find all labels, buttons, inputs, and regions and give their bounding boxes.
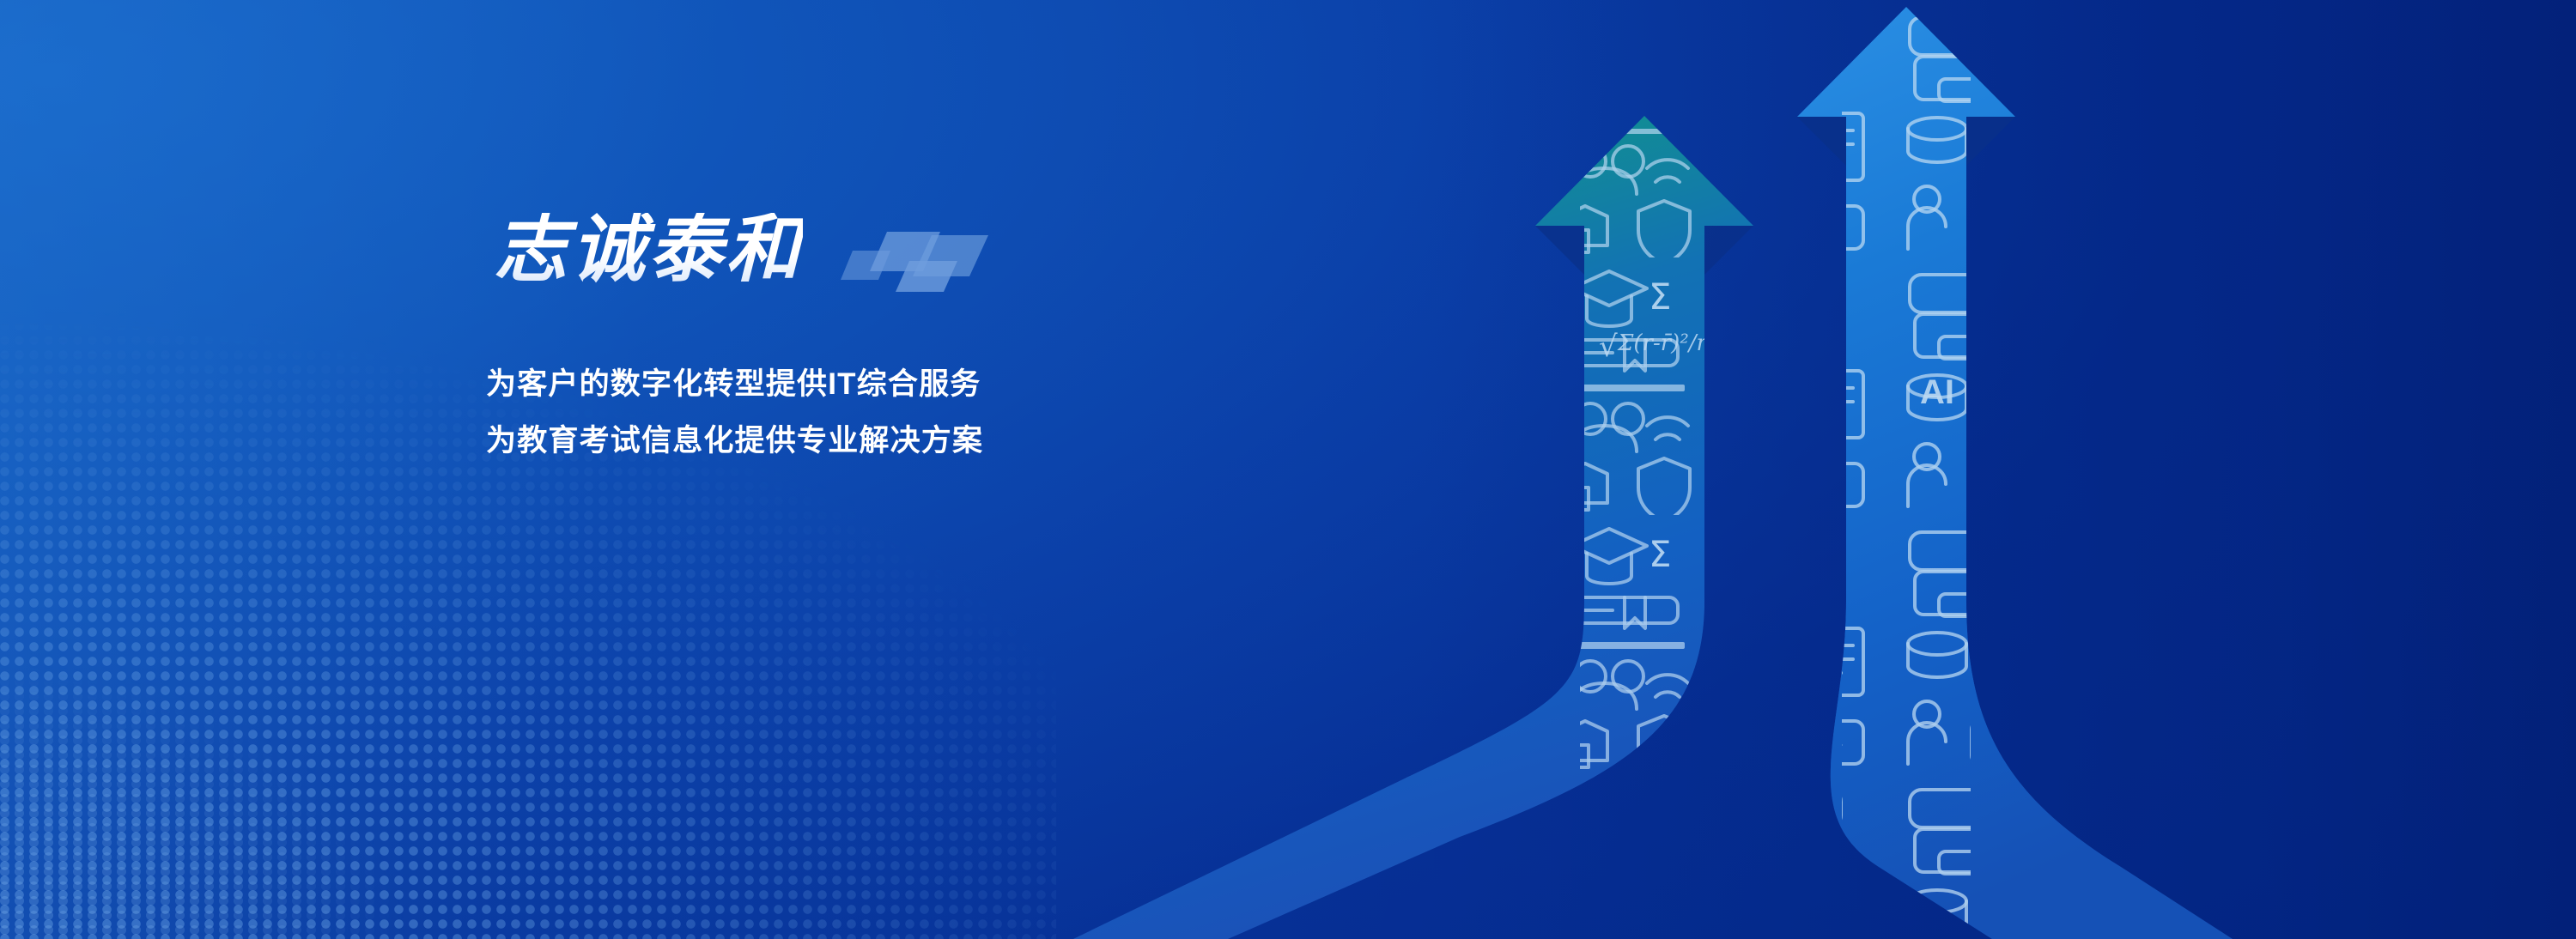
svg-text:AI: AI (1920, 373, 1954, 411)
it-service-arrow: AI (1797, 7, 2233, 939)
page-title: 志诚泰和 (494, 213, 803, 287)
tagline-line-2: 为教育考试信息化提供专业解决方案 (486, 426, 983, 456)
hero-banner: Σ (0, 0, 2576, 939)
education-arrow: √ Σ(r-r̄)²/n (1073, 116, 1753, 939)
green-arrow-shadow (1535, 226, 1584, 275)
parallelogram-logo-mark (837, 221, 1000, 295)
svg-text:Σ(r-r̄)²/n: Σ(r-r̄)²/n (1617, 330, 1710, 356)
blue-arrow-shadow (1797, 117, 1846, 166)
svg-text:√: √ (1599, 330, 1618, 364)
arrows-illustration: Σ (0, 0, 2576, 939)
tagline-line-1: 为客户的数字化转型提供IT综合服务 (486, 369, 981, 399)
